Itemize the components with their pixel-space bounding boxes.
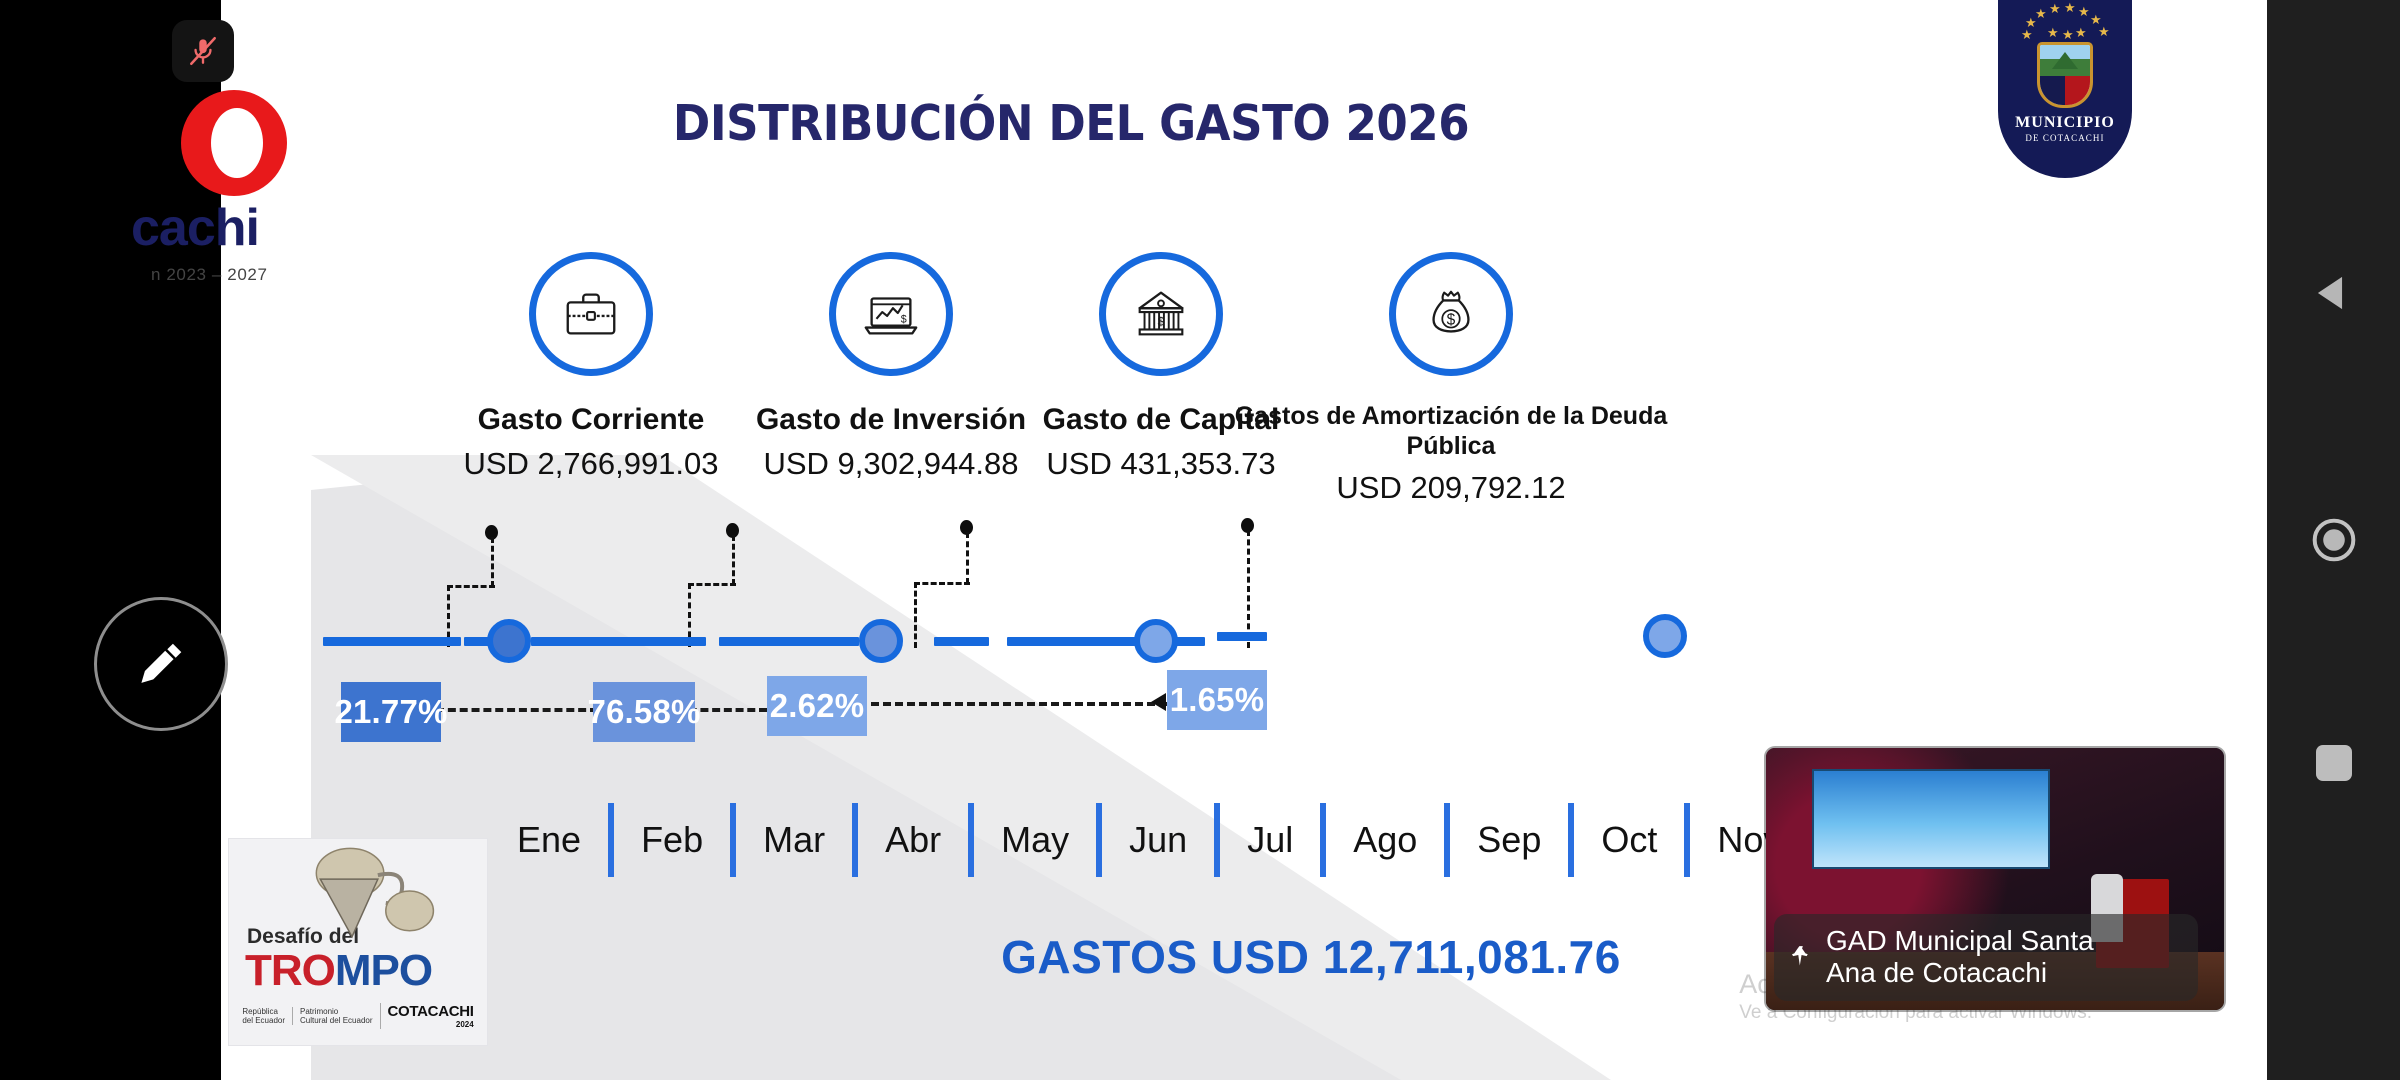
- poster-wordmark: TROMPO: [245, 949, 432, 993]
- category-icon-circle: $: [829, 252, 953, 376]
- pin-icon: [1788, 944, 1814, 970]
- recents-button[interactable]: [2316, 745, 2352, 781]
- video-projected-slide: [1812, 769, 2050, 869]
- bank-building-icon: $: [1130, 283, 1192, 345]
- back-triangle-icon: [2311, 270, 2357, 316]
- video-caption-line-1: GAD Municipal Santa: [1826, 925, 2094, 956]
- month-oct: Oct: [1574, 819, 1684, 861]
- stars-arc-icon: ★ ★ ★ ★ ★ ★ ★ ★ ★ ★ ★: [2017, 0, 2113, 40]
- month-ene: Ene: [490, 819, 608, 861]
- month-sep: Sep: [1450, 819, 1568, 861]
- brand-red-circle-icon: [181, 90, 287, 196]
- briefcase-icon: [560, 283, 622, 345]
- timeline-segment: [531, 637, 706, 646]
- trompo-poster: Desafío del TROMPO República del Ecuador…: [228, 838, 488, 1046]
- home-button[interactable]: [2309, 515, 2359, 565]
- month-feb: Feb: [614, 819, 730, 861]
- percent-value: 76.58%: [587, 693, 700, 731]
- percent-value: 1.65%: [1170, 681, 1265, 719]
- category-amount: USD 209,792.12: [1226, 470, 1676, 506]
- android-navigation-bar: [2267, 0, 2400, 1080]
- credit-republica: República del Ecuador: [242, 1007, 285, 1025]
- credit-line-2: del Ecuador: [242, 1016, 285, 1025]
- poster-word-red: TRO: [245, 946, 335, 995]
- timeline-segment: [323, 637, 461, 646]
- month-axis: Ene Feb Mar Abr May Jun Jul Ago Sep Oct …: [490, 795, 1808, 885]
- video-picture-in-picture[interactable]: GAD Municipal Santa Ana de Cotacachi: [1766, 748, 2224, 1010]
- category-icon-circle: $: [1389, 252, 1513, 376]
- category-icon-circle: $: [1099, 252, 1223, 376]
- timeline-segment: [934, 637, 989, 646]
- category-label: Gastos de Amortización de la Deuda Públi…: [1226, 402, 1676, 461]
- pencil-icon: [133, 636, 189, 692]
- month-may: May: [974, 819, 1096, 861]
- total-expenses: GASTOS USD 12,711,081.76: [861, 930, 1761, 984]
- percent-value: 21.77%: [334, 693, 447, 731]
- timeline-segment: [1217, 632, 1267, 641]
- month-ago: Ago: [1326, 819, 1444, 861]
- brand-years: n 2023 – 2027: [151, 265, 268, 285]
- leader-line-2: [636, 523, 756, 643]
- money-bag-icon: $: [1420, 283, 1482, 345]
- percent-badge-4: 1.65%: [1167, 670, 1267, 730]
- microphone-muted-button[interactable]: [172, 20, 234, 82]
- credit-patrimonio: Patrimonio Cultural del Ecuador: [292, 1007, 372, 1025]
- poster-year: 2024: [388, 1020, 474, 1029]
- video-caption: GAD Municipal Santa Ana de Cotacachi: [1774, 914, 2198, 1001]
- percent-arrowhead: [1151, 693, 1166, 711]
- spinning-top-icon: [229, 845, 487, 945]
- brand-name: cachi: [131, 198, 259, 258]
- screen-root: DISTRIBUCIÓN DEL GASTO 2026 Gasto Corrie…: [0, 0, 2400, 1080]
- percent-connector: [436, 708, 598, 712]
- back-button[interactable]: [2311, 270, 2357, 316]
- municipal-coat-of-arms: ★ ★ ★ ★ ★ ★ ★ ★ ★ ★ ★ MUNICIPIO DE COTAC…: [1998, 0, 2132, 178]
- poster-word-blue: MPO: [335, 946, 432, 995]
- svg-text:$: $: [901, 314, 907, 326]
- poster-city: COTACACHI: [388, 1003, 474, 1020]
- timeline-segment: [719, 637, 859, 646]
- chart-laptop-dollar-icon: $: [860, 283, 922, 345]
- percent-badge-3: 2.62%: [767, 676, 867, 736]
- credit-line-4: Cultural del Ecuador: [300, 1016, 372, 1025]
- credit-city: COTACACHI 2024: [380, 1003, 474, 1029]
- category-icon-circle: [529, 252, 653, 376]
- month-abr: Abr: [858, 819, 968, 861]
- crest-shield-icon: [2037, 42, 2093, 108]
- month-mar: Mar: [736, 819, 852, 861]
- page-title: DISTRIBUCIÓN DEL GASTO 2026: [289, 95, 1853, 152]
- shield-subtitle: DE COTACACHI: [2025, 133, 2104, 143]
- percent-badge-1: 21.77%: [341, 682, 441, 742]
- brand-logo: cachi n 2023 – 2027: [221, 90, 481, 270]
- timeline-node-1[interactable]: [487, 619, 531, 663]
- video-caption-text: GAD Municipal Santa Ana de Cotacachi: [1826, 925, 2094, 988]
- edit-pencil-button[interactable]: [94, 597, 228, 731]
- poster-credits: República del Ecuador Patrimonio Cultura…: [242, 1003, 473, 1029]
- svg-text:$: $: [1447, 312, 1456, 329]
- credit-line-3: Patrimonio: [300, 1007, 372, 1016]
- leader-line-4: [1241, 518, 1301, 646]
- home-circle-icon: [2309, 515, 2359, 565]
- recents-square-icon: [2316, 745, 2352, 781]
- percent-connector: [871, 702, 1167, 706]
- month-jun: Jun: [1102, 819, 1214, 861]
- category-gastos-amortizacion: $ Gastos de Amortización de la Deuda Púb…: [1226, 252, 1676, 506]
- video-caption-line-2: Ana de Cotacachi: [1826, 957, 2094, 988]
- timeline-node-2[interactable]: [859, 619, 903, 663]
- timeline-node-3[interactable]: [1134, 619, 1178, 663]
- timeline-node-4[interactable]: [1643, 614, 1687, 658]
- credit-line-1: República: [242, 1007, 285, 1016]
- percent-value: 2.62%: [770, 687, 865, 725]
- shield-title: MUNICIPIO: [2015, 114, 2115, 132]
- svg-text:$: $: [1158, 316, 1165, 329]
- month-jul: Jul: [1220, 819, 1320, 861]
- percent-badge-2: 76.58%: [593, 682, 695, 742]
- microphone-muted-icon: [186, 34, 220, 68]
